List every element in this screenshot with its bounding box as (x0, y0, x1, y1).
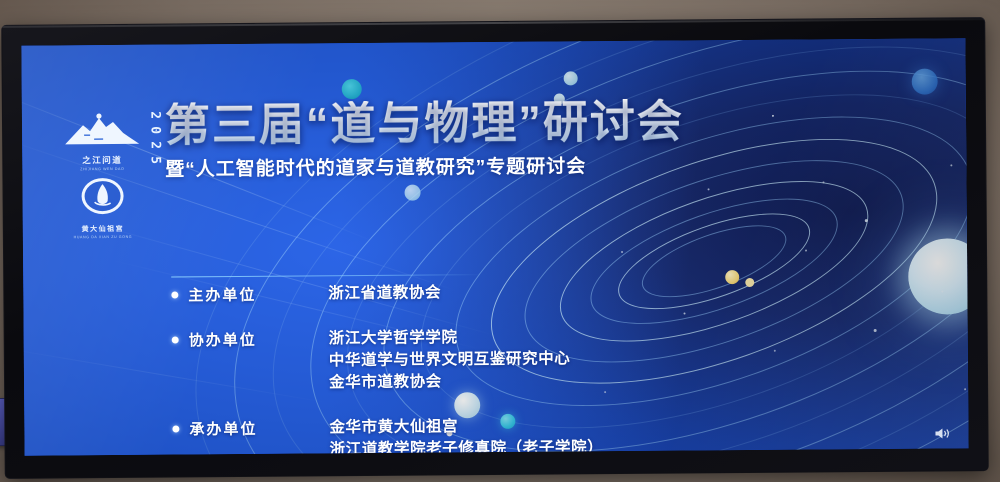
huangdaxian-zugong-logo: 黄大仙祖宫 HUANG DA XIAN ZU GONG (56, 177, 148, 240)
slide-subtitle: 暨“人工智能时代的道家与道教研究”专题研讨会 (165, 150, 684, 181)
list-item: 协办单位 浙江大学哲学学院 中华道学与世界文明互鉴研究中心 金华市道教协会 (172, 326, 643, 396)
room-scene: 之江问道 ZHIJIANG WEN DAO 黄大仙祖宫 HUANG DA XIA… (0, 0, 1000, 482)
logo-pinyin: ZHIJIANG WEN DAO (56, 167, 148, 172)
row-value: 中华道学与世界文明互鉴研究中心 (329, 348, 642, 372)
row-value: 浙江大学哲学学院 (329, 326, 642, 350)
display-screen[interactable]: 之江问道 ZHIJIANG WEN DAO 黄大仙祖宫 HUANG DA XIA… (21, 38, 968, 455)
row-values: 浙江省道教协会 (328, 281, 641, 305)
mountain-icon (63, 113, 141, 148)
slide-title: 第三届“道与物理”研讨会 (165, 99, 684, 150)
row-label: 协办单位 (189, 328, 329, 350)
circular-emblem-icon (79, 177, 125, 217)
organizer-list: 主办单位 浙江省道教协会 协办单位 浙江大学哲学学院 中华道学与世界文明互鉴研究… (171, 281, 643, 456)
wall-display[interactable]: 之江问道 ZHIJIANG WEN DAO 黄大仙祖宫 HUANG DA XIA… (2, 18, 988, 478)
row-value: 金华市道教协会 (329, 370, 642, 394)
row-label: 主办单位 (188, 283, 328, 305)
list-item: 承办单位 金华市黄大仙祖宫 浙江道教学院老子修真院（老子学院） (172, 415, 642, 456)
year-digit: 5 (148, 156, 163, 166)
bullet-icon (172, 336, 179, 343)
row-values: 金华市黄大仙祖宫 浙江道教学院老子修真院（老子学院） (329, 415, 642, 456)
year-digit: 2 (148, 141, 163, 151)
year-vertical: 2 0 2 5 (150, 109, 160, 169)
logo-caption: 黄大仙祖宫 (57, 224, 149, 235)
zhijiang-wendao-logo: 之江问道 ZHIJIANG WEN DAO (56, 113, 148, 172)
logo-group: 之江问道 ZHIJIANG WEN DAO 黄大仙祖宫 HUANG DA XIA… (56, 113, 149, 246)
bullet-icon (171, 291, 178, 298)
logo-pinyin: HUANG DA XIAN ZU GONG (57, 235, 149, 240)
row-value: 金华市黄大仙祖宫 (329, 415, 642, 439)
row-label: 承办单位 (189, 417, 329, 439)
year-digit: 2 (147, 111, 162, 121)
logo-caption: 之江问道 (56, 154, 148, 167)
title-block: 2 0 2 5 第三届“道与物理”研讨会 暨“人工智能时代的道家与道教研究”专题… (150, 99, 684, 182)
speaker-volume-icon (934, 426, 950, 440)
row-value: 浙江省道教协会 (328, 281, 641, 305)
list-item: 主办单位 浙江省道教协会 (171, 281, 641, 307)
bullet-icon (172, 425, 179, 432)
row-values: 浙江大学哲学学院 中华道学与世界文明互鉴研究中心 金华市道教协会 (329, 326, 643, 394)
year-digit: 0 (147, 126, 162, 136)
